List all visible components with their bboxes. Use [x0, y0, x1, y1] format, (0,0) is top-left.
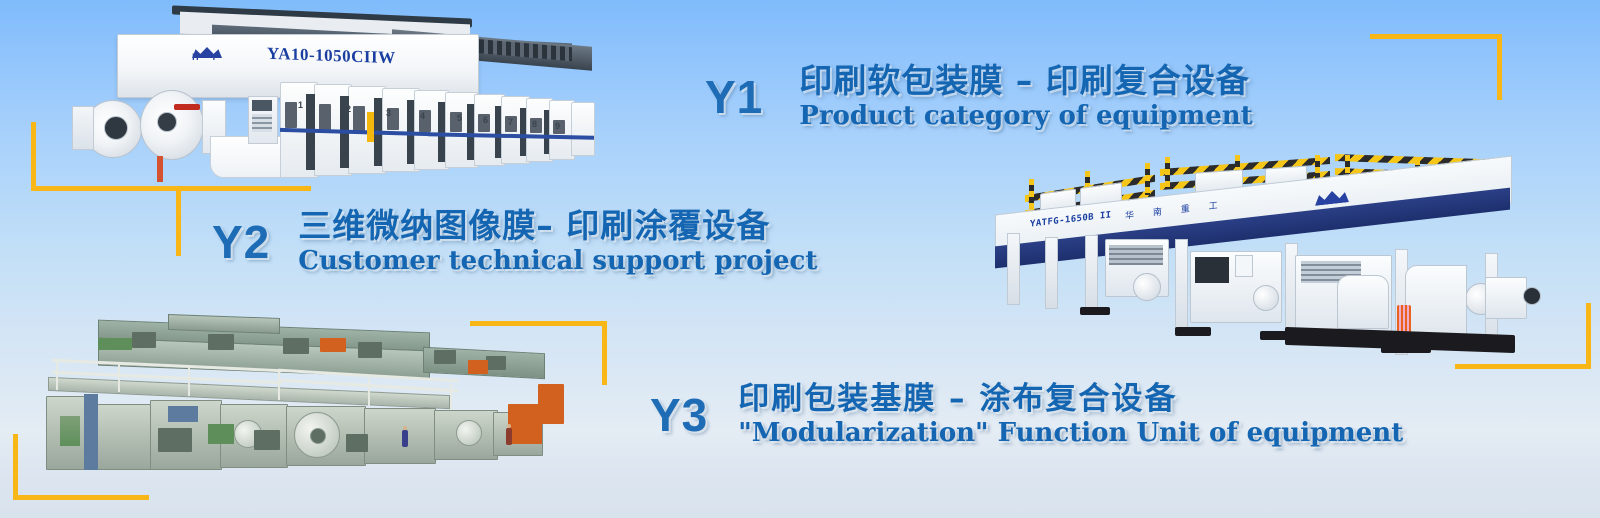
- entry-block-y2[interactable]: Y2 三维微纳图像膜– 印刷涂覆设备 Customer technical su…: [212, 207, 817, 276]
- entry-title-y3: 印刷包装基膜 – 涂布复合设备: [738, 381, 1403, 417]
- bracket-y2-horizontal: [176, 186, 311, 191]
- entry-subtitle-y3: "Modularization" Function Unit of equipm…: [738, 418, 1403, 448]
- unit-number-4: 4: [420, 111, 425, 121]
- bracket-top-right-horizontal: [1370, 34, 1502, 39]
- unit-number-7: 7: [508, 117, 513, 127]
- machine-photo-paper-plant: [38, 308, 568, 480]
- entry-subtitle-y1: Product category of equipment: [799, 101, 1252, 131]
- bracket-bottom-left-vertical: [13, 434, 18, 500]
- bracket-left-horizontal: [31, 186, 181, 191]
- entry-code-y2: Y2: [212, 215, 270, 269]
- entry-title-y1: 印刷软包装膜 – 印刷复合设备: [799, 62, 1252, 100]
- worker-figure: [402, 430, 408, 447]
- machine-brand-logo: H Y: [184, 46, 230, 68]
- unit-number-6: 6: [483, 115, 488, 125]
- bracket-bottom-right-horizontal: [1455, 364, 1591, 369]
- entry-block-y1[interactable]: Y1 印刷软包装膜 – 印刷复合设备 Product category of e…: [705, 62, 1253, 131]
- entry-subtitle-y2: Customer technical support project: [298, 246, 817, 276]
- bracket-top-right-vertical: [1497, 34, 1502, 100]
- bracket-bottom-right-vertical: [1586, 303, 1591, 369]
- bracket-left-vertical: [31, 122, 36, 190]
- unit-number-1: 1: [298, 100, 303, 110]
- bracket-y2-vertical: [176, 186, 181, 256]
- unit-number-3: 3: [386, 108, 391, 118]
- machine-photo-coating-line: YATFG-1650B II 华 南 重 工: [985, 155, 1545, 360]
- entry-code-y3: Y3: [650, 388, 708, 442]
- promo-banner: H Y YA10-1050CIIW: [0, 0, 1600, 518]
- unit-number-2: 2: [346, 104, 351, 114]
- unit-number-5: 5: [457, 113, 462, 123]
- entry-block-y3[interactable]: Y3 印刷包装基膜 – 涂布复合设备 "Modularization" Func…: [650, 381, 1403, 448]
- bracket-bottom-left-horizontal: [13, 495, 149, 500]
- bracket-mid-vertical: [602, 321, 607, 385]
- entry-title-y2: 三维微纳图像膜– 印刷涂覆设备: [298, 207, 817, 245]
- unit-number-9: 9: [555, 121, 560, 131]
- unit-number-8: 8: [532, 119, 537, 129]
- machine-photo-printing-press: H Y YA10-1050CIIW: [62, 8, 607, 180]
- entry-code-y1: Y1: [705, 70, 763, 124]
- worker-figure-2: [506, 428, 512, 445]
